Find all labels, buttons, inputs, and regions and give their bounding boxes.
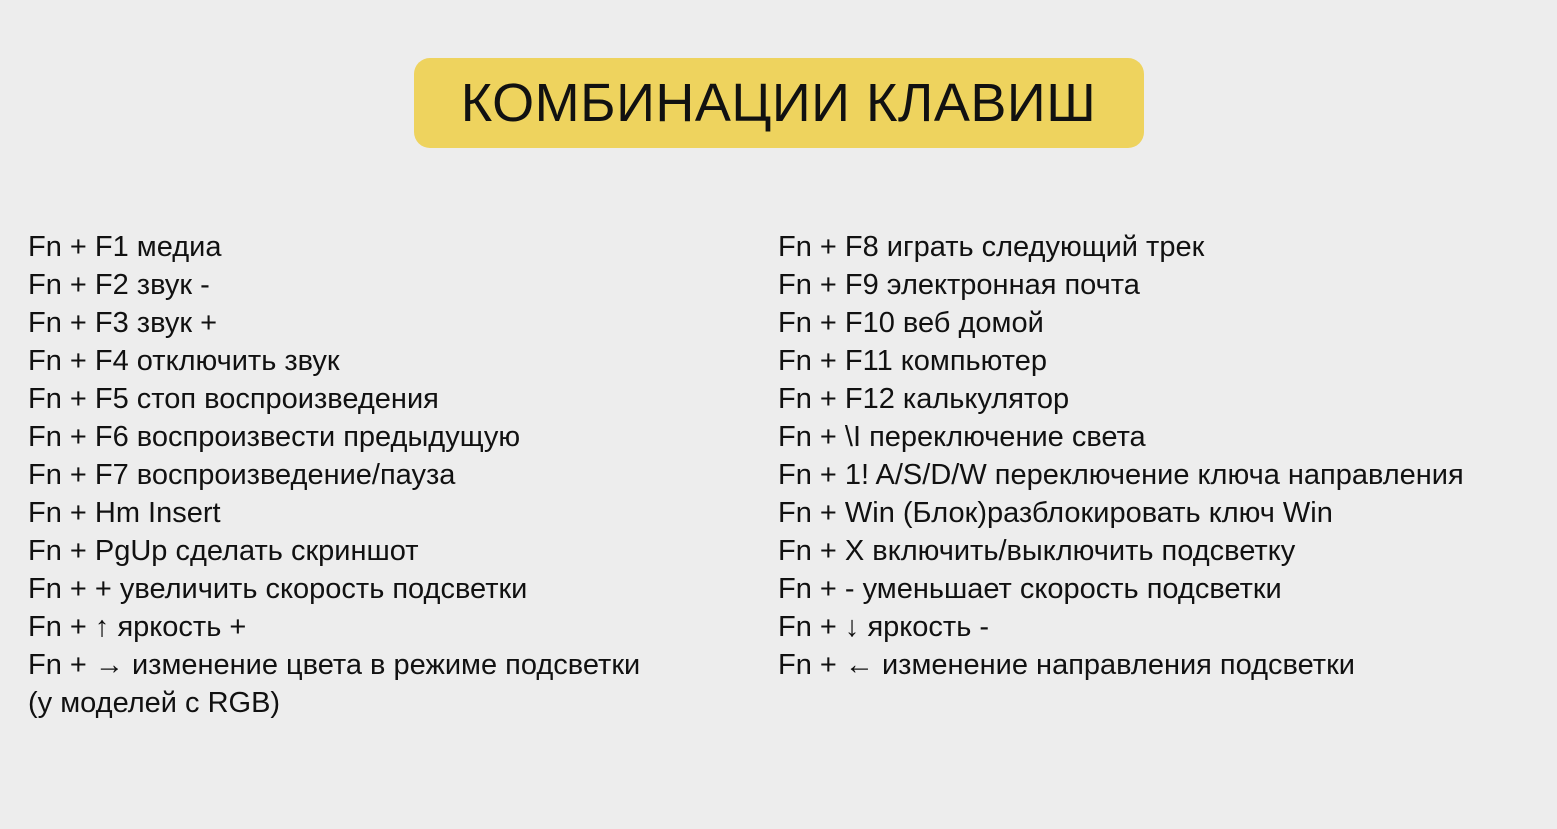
shortcut-item: Fn + F3 звук + (28, 304, 758, 342)
shortcuts-column-left: Fn + F1 медиа Fn + F2 звук - Fn + F3 зву… (28, 228, 758, 722)
page-title: КОМБИНАЦИИ КЛАВИШ (461, 76, 1096, 130)
title-banner-row: КОМБИНАЦИИ КЛАВИШ (0, 58, 1557, 148)
title-banner: КОМБИНАЦИИ КЛАВИШ (414, 58, 1144, 148)
shortcut-item: Fn + F12 калькулятор (778, 380, 1548, 418)
shortcut-item: Fn + F1 медиа (28, 228, 758, 266)
shortcut-item: Fn + 1! A/S/D/W переключение ключа напра… (778, 456, 1548, 494)
shortcut-item: Fn + - уменьшает скорость подсветки (778, 570, 1548, 608)
shortcut-item: Fn + → изменение цвета в режиме подсветк… (28, 646, 758, 722)
shortcut-item: Fn + F4 отключить звук (28, 342, 758, 380)
shortcut-item: Fn + F6 воспроизвести предыдущую (28, 418, 758, 456)
shortcuts-infographic: КОМБИНАЦИИ КЛАВИШ Fn + F1 медиа Fn + F2 … (0, 0, 1557, 829)
shortcut-item: Fn + F10 веб домой (778, 304, 1548, 342)
shortcut-item: Fn + PgUp сделать скриншот (28, 532, 758, 570)
shortcut-item: Fn + X включить/выключить подсветку (778, 532, 1548, 570)
shortcuts-columns: Fn + F1 медиа Fn + F2 звук - Fn + F3 зву… (0, 228, 1557, 748)
shortcut-item: Fn + ↑ яркость + (28, 608, 758, 646)
shortcut-item: Fn + Hm Insert (28, 494, 758, 532)
shortcuts-column-right: Fn + F8 играть следующий трек Fn + F9 эл… (778, 228, 1548, 684)
shortcut-item: Fn + F2 звук - (28, 266, 758, 304)
shortcut-item: Fn + \I переключение света (778, 418, 1548, 456)
shortcut-item: Fn + Win (Блок)разблокировать ключ Win (778, 494, 1548, 532)
shortcut-item: Fn + F11 компьютер (778, 342, 1548, 380)
shortcut-item: Fn + F9 электронная почта (778, 266, 1548, 304)
shortcut-item: Fn + F5 стоп воспроизведения (28, 380, 758, 418)
shortcut-item: Fn + + увеличить скорость подсветки (28, 570, 758, 608)
shortcut-item: Fn + ↓ яркость - (778, 608, 1548, 646)
shortcut-item: Fn + ← изменение направления подсветки (778, 646, 1548, 684)
shortcut-item: Fn + F8 играть следующий трек (778, 228, 1548, 266)
shortcut-item: Fn + F7 воспроизведение/пауза (28, 456, 758, 494)
